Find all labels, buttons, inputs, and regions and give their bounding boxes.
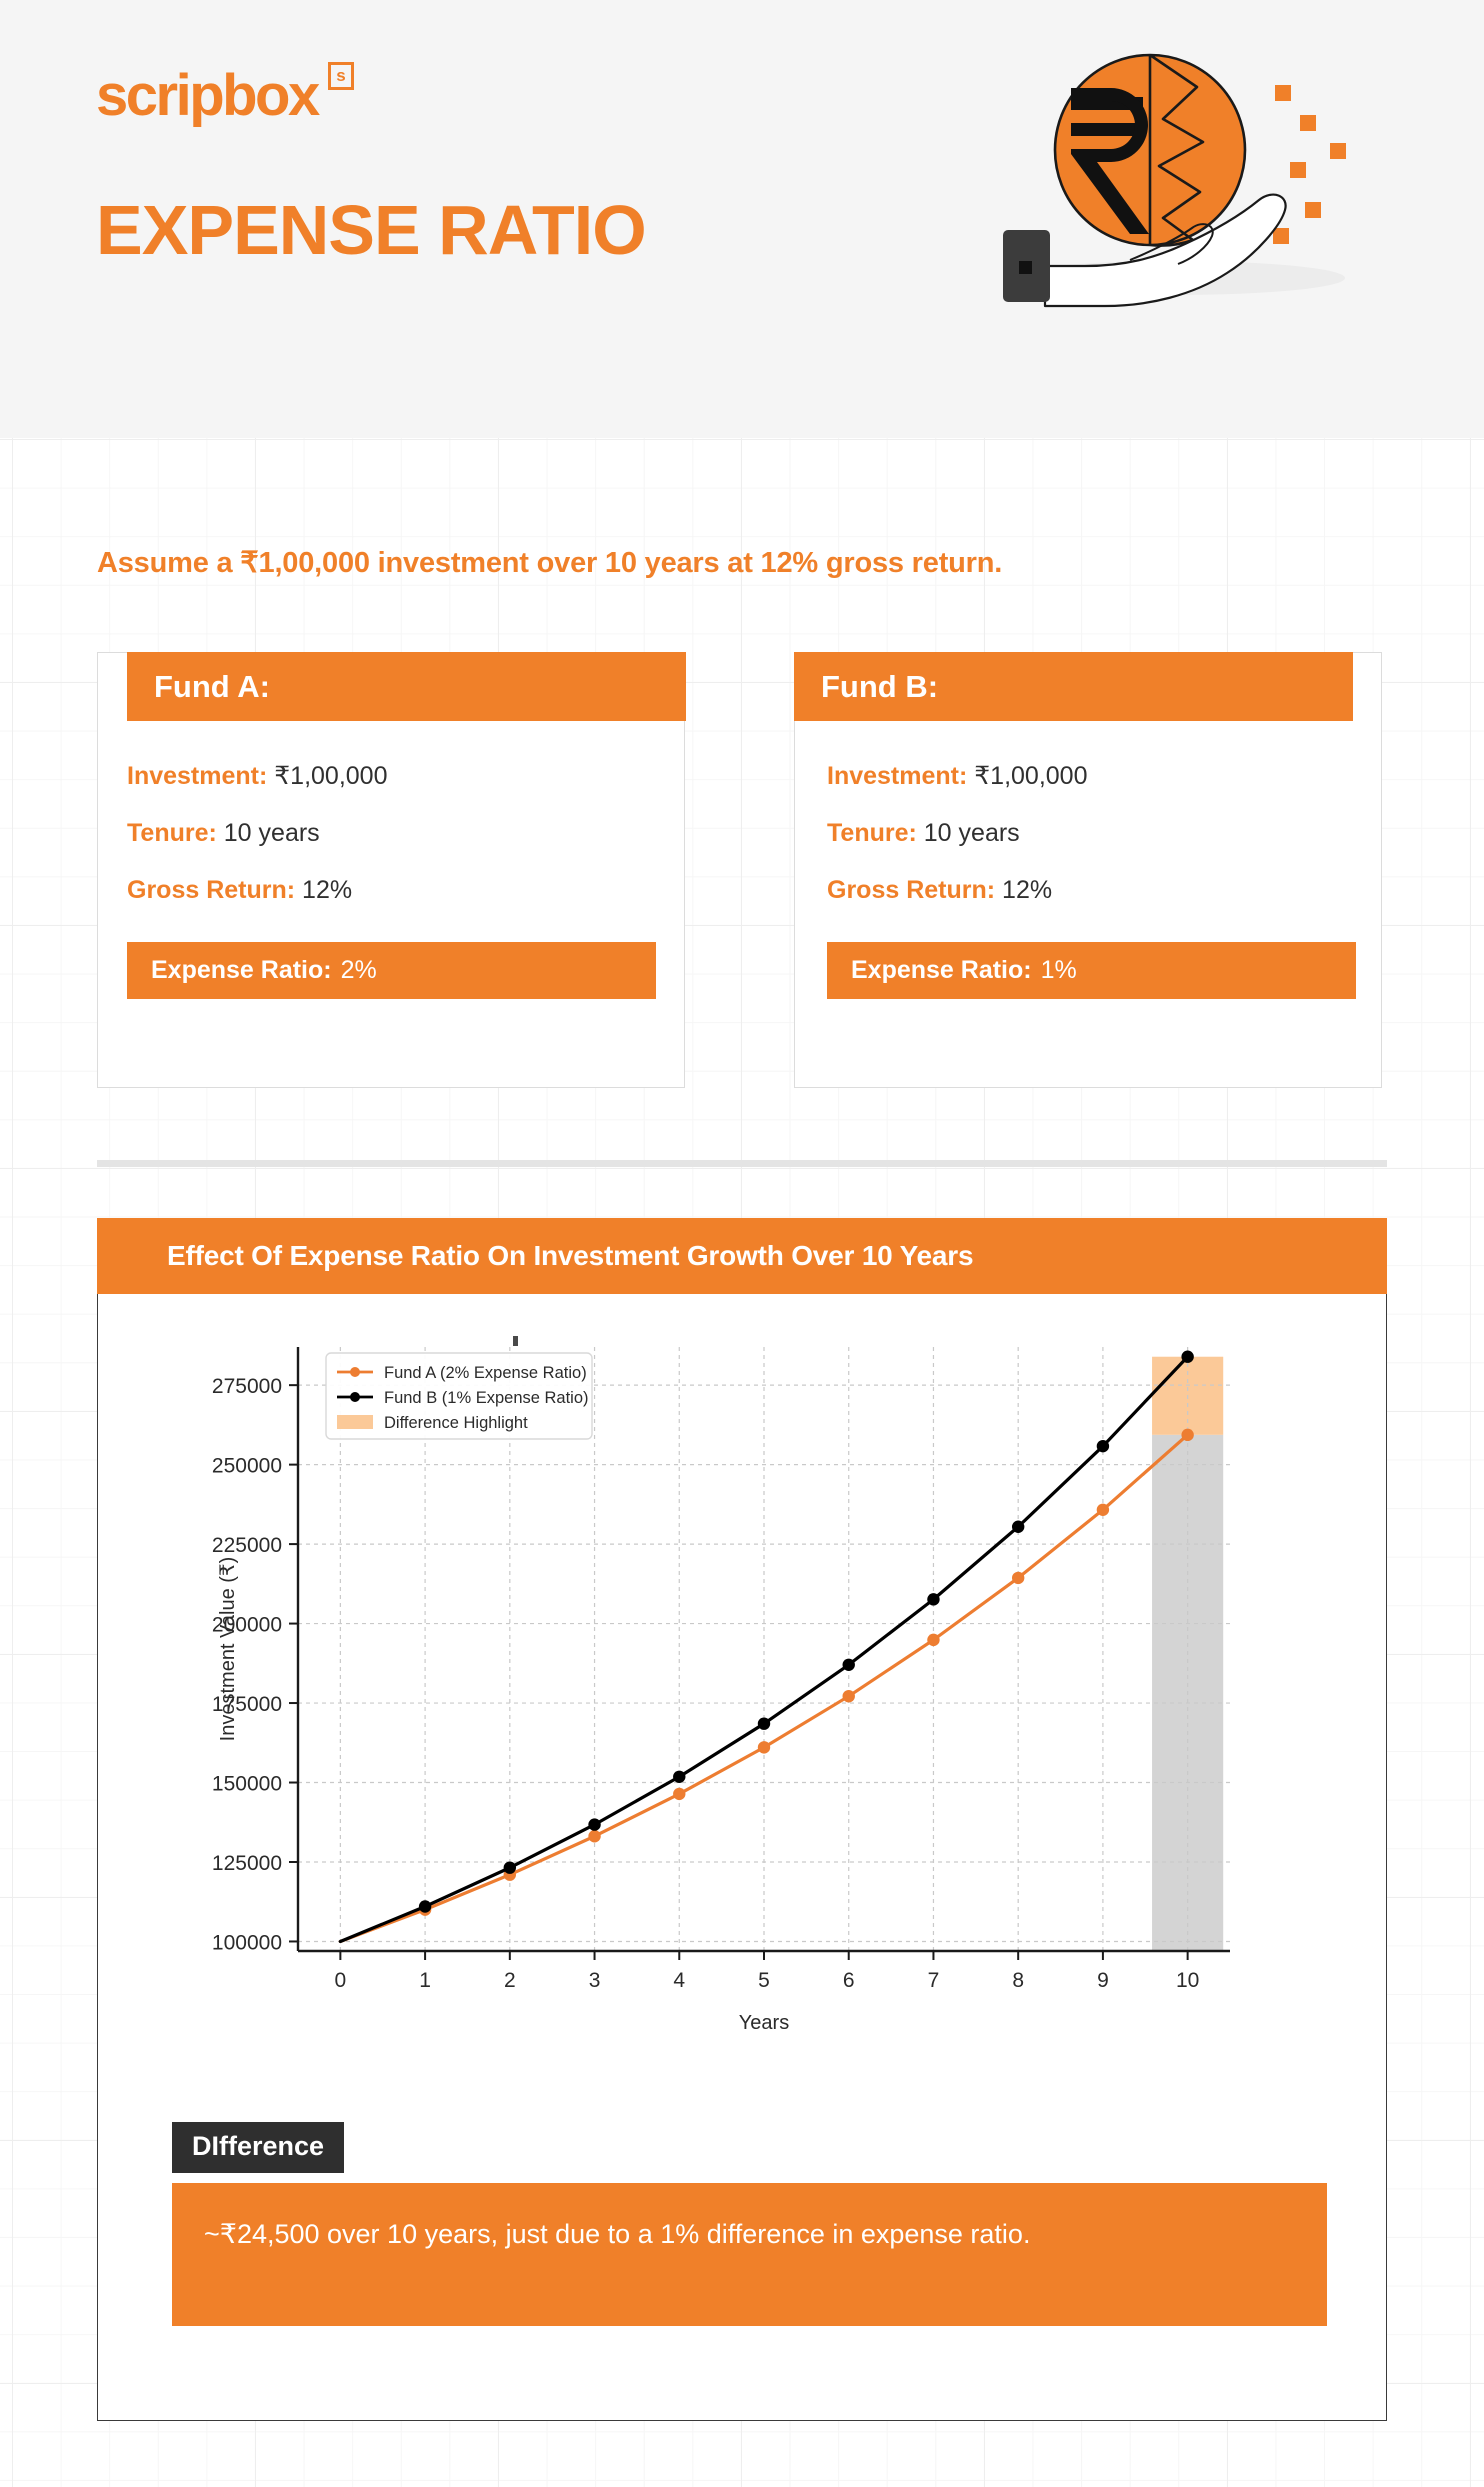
data-point	[1012, 1521, 1024, 1533]
fund-b-details: Investment: ₹1,00,000 Tenure: 10 years G…	[827, 761, 1367, 933]
data-point	[1097, 1504, 1109, 1516]
legend-marker	[350, 1392, 360, 1402]
fund-a-tenure-row: Tenure: 10 years	[127, 819, 667, 848]
data-point	[673, 1788, 685, 1800]
data-point	[758, 1717, 770, 1729]
x-axis-tick-label: 2	[504, 1969, 516, 1992]
x-axis-tick-label: 3	[589, 1969, 601, 1992]
infographic-page: scripbox s EXPENSE RATIO	[0, 0, 1484, 2487]
scripbox-logo-superscript: s	[328, 62, 354, 90]
fund-b-gross-return-key: Gross Return:	[827, 876, 995, 904]
fund-a-investment-value: ₹1,00,000	[274, 762, 387, 790]
fund-b-gross-return-row: Gross Return: 12%	[827, 876, 1367, 905]
y-axis-tick-label: 125000	[212, 1852, 282, 1875]
y-axis-tick-label: 150000	[212, 1773, 282, 1796]
fund-a-expense-ratio-bar: Expense Ratio: 2%	[127, 942, 656, 999]
scripbox-logo: scripbox	[96, 62, 318, 129]
fund-b-investment-key: Investment:	[827, 762, 967, 790]
y-axis-tick-label: 275000	[212, 1375, 282, 1398]
fund-b-gross-return-value: 12%	[1002, 876, 1052, 904]
x-axis-tick-label: 0	[335, 1969, 347, 1992]
fund-a-details: Investment: ₹1,00,000 Tenure: 10 years G…	[127, 761, 667, 933]
x-axis-tick-label: 9	[1097, 1969, 1109, 1992]
fund-b-tenure-value: 10 years	[924, 819, 1020, 847]
fund-a-investment-row: Investment: ₹1,00,000	[127, 761, 667, 791]
y-axis-tick-label: 250000	[212, 1455, 282, 1478]
data-point	[588, 1818, 600, 1830]
legend-label: Fund A (2% Expense Ratio)	[384, 1364, 587, 1382]
data-point	[1181, 1429, 1193, 1441]
x-axis-tick-label: 6	[843, 1969, 855, 1992]
fund-a-gross-return-value: 12%	[302, 876, 352, 904]
data-point	[927, 1634, 939, 1646]
x-axis-tick-label: 5	[758, 1969, 770, 1992]
growth-line-chart: 1000001250001500001750002000002250002500…	[208, 1329, 1268, 2074]
stray-mark	[513, 1336, 518, 1346]
fund-b-investment-value: ₹1,00,000	[974, 762, 1087, 790]
assumption-text: Assume a ₹1,00,000 investment over 10 ye…	[97, 545, 1002, 580]
data-point	[419, 1900, 431, 1912]
fund-b-tenure-row: Tenure: 10 years	[827, 819, 1367, 848]
data-point	[843, 1659, 855, 1671]
x-axis-label: Years	[739, 2012, 789, 2034]
fund-a-tenure-value: 10 years	[224, 819, 320, 847]
fund-a-expense-ratio-value: 2%	[341, 956, 377, 985]
fund-a-investment-key: Investment:	[127, 762, 267, 790]
fund-a-expense-ratio-key: Expense Ratio:	[151, 956, 332, 985]
rupee-coin-in-hand-icon	[945, 40, 1365, 325]
fund-b-card: Fund B: Investment: ₹1,00,000 Tenure: 10…	[794, 652, 1382, 1088]
legend-label: Difference Highlight	[384, 1414, 528, 1432]
section-divider	[97, 1160, 1387, 1167]
data-point	[673, 1771, 685, 1783]
fund-b-header: Fund B:	[794, 652, 1353, 721]
data-point	[588, 1830, 600, 1842]
fund-a-card: Fund A: Investment: ₹1,00,000 Tenure: 10…	[97, 652, 685, 1088]
legend-patch-swatch	[337, 1415, 373, 1429]
y-axis-tick-label: 100000	[212, 1931, 282, 1954]
data-point	[1097, 1440, 1109, 1452]
x-axis-tick-label: 8	[1012, 1969, 1024, 1992]
fund-b-tenure-key: Tenure:	[827, 819, 917, 847]
x-axis-tick-label: 7	[928, 1969, 940, 1992]
x-axis-tick-label: 1	[419, 1969, 431, 1992]
y-axis-label: Investment Value (₹)	[217, 1557, 239, 1742]
y-axis-tick-label: 225000	[212, 1534, 282, 1557]
fund-b-expense-ratio-bar: Expense Ratio: 1%	[827, 942, 1356, 999]
x-axis-tick-label: 10	[1176, 1969, 1199, 1992]
difference-text: ~₹24,500 over 10 years, just due to a 1%…	[172, 2183, 1327, 2326]
data-point	[927, 1593, 939, 1605]
fund-b-expense-ratio-key: Expense Ratio:	[851, 956, 1032, 985]
header-band: scripbox s EXPENSE RATIO	[0, 0, 1484, 438]
data-point	[504, 1861, 516, 1873]
fund-b-expense-ratio-value: 1%	[1041, 956, 1077, 985]
fund-a-gross-return-row: Gross Return: 12%	[127, 876, 667, 905]
fund-a-tenure-key: Tenure:	[127, 819, 217, 847]
data-point	[1181, 1351, 1193, 1363]
x-axis-tick-label: 4	[673, 1969, 685, 1992]
fund-b-investment-row: Investment: ₹1,00,000	[827, 761, 1367, 791]
fund-a-header: Fund A:	[127, 652, 686, 721]
legend-label: Fund B (1% Expense Ratio)	[384, 1389, 589, 1407]
legend-marker	[350, 1367, 360, 1377]
data-point	[1012, 1572, 1024, 1584]
difference-tag: DIfference	[172, 2122, 344, 2173]
data-point	[758, 1741, 770, 1753]
fund-a-gross-return-key: Gross Return:	[127, 876, 295, 904]
page-title: EXPENSE RATIO	[96, 190, 646, 270]
data-point	[843, 1690, 855, 1702]
chart-title-banner: Effect Of Expense Ratio On Investment Gr…	[97, 1218, 1387, 1294]
